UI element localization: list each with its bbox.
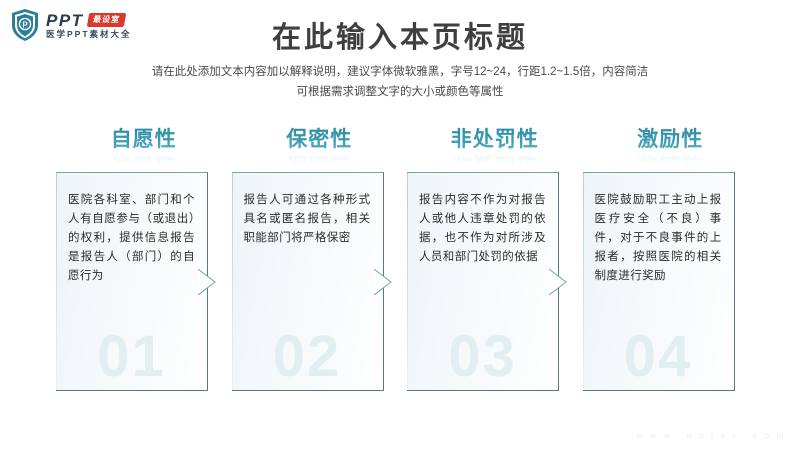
column-4-heading: 激励性 <box>583 126 759 160</box>
footer-watermark: w w w . p p t e r . c o m <box>637 430 786 440</box>
column-3: 非处罚性 非处罚性 报告内容不作为对报告人或他人违章处罚的依据，也不作为对所涉及… <box>407 126 583 406</box>
column-4-heading-reflection: 激励性 <box>583 156 759 166</box>
column-4-body: 医院鼓励职工主动上报医疗安全（不良）事件，对于不良事件的上报者，按照医院的相关制… <box>583 173 734 286</box>
column-1-body: 医院各科室、部门和个人有自愿参与（或退出）的权利，提供信息报告是报告人（部门）的… <box>56 173 207 286</box>
column-1-heading: 自愿性 <box>56 126 232 160</box>
slide-canvas: P PPT 最设室 医学PPT素材大全 在此输入本页标题 请在此处添加文本内容加… <box>0 0 800 450</box>
column-3-heading-reflection: 非处罚性 <box>407 156 583 166</box>
column-2-heading-reflection: 保密性 <box>232 156 408 166</box>
column-4-number: 04 <box>583 328 734 386</box>
column-2-number: 02 <box>232 328 383 386</box>
column-2-body: 报告人可通过各种形式具名或匿名报告，相关职能部门将严格保密 <box>232 173 383 248</box>
column-3-body: 报告内容不作为对报告人或他人违章处罚的依据，也不作为对所涉及人员和部门处罚的依据 <box>407 173 558 267</box>
page-title: 在此输入本页标题 <box>0 14 800 56</box>
subtitle-line-2: 可根据需求调整文字的大小或颜色等属性 <box>0 82 800 102</box>
column-3-number: 03 <box>407 328 558 386</box>
column-2: 保密性 保密性 报告人可通过各种形式具名或匿名报告，相关职能部门将严格保密 02 <box>232 126 408 406</box>
feature-columns: 自愿性 自愿性 医院各科室、部门和个人有自愿参与（或退出）的权利，提供信息报告是… <box>56 126 758 406</box>
column-2-heading: 保密性 <box>232 126 408 160</box>
column-3-card: 报告内容不作为对报告人或他人违章处罚的依据，也不作为对所涉及人员和部门处罚的依据… <box>407 172 559 391</box>
column-1: 自愿性 自愿性 医院各科室、部门和个人有自愿参与（或退出）的权利，提供信息报告是… <box>56 126 232 406</box>
column-1-number: 01 <box>56 328 207 386</box>
column-1-heading-reflection: 自愿性 <box>56 156 232 166</box>
column-4-card: 医院鼓励职工主动上报医疗安全（不良）事件，对于不良事件的上报者，按照医院的相关制… <box>583 172 735 391</box>
chevron-right-icon <box>549 269 567 295</box>
column-1-card: 医院各科室、部门和个人有自愿参与（或退出）的权利，提供信息报告是报告人（部门）的… <box>56 172 208 391</box>
column-4: 激励性 激励性 医院鼓励职工主动上报医疗安全（不良）事件，对于不良事件的上报者，… <box>583 126 759 406</box>
subtitle-line-1: 请在此处添加文本内容加以解释说明，建议字体微软雅黑，字号12~24，行距1.2~… <box>0 62 800 82</box>
column-2-card: 报告人可通过各种形式具名或匿名报告，相关职能部门将严格保密 02 <box>232 172 384 391</box>
chevron-right-icon <box>374 269 392 295</box>
column-3-heading: 非处罚性 <box>407 126 583 160</box>
page-subtitle: 请在此处添加文本内容加以解释说明，建议字体微软雅黑，字号12~24，行距1.2~… <box>0 62 800 102</box>
